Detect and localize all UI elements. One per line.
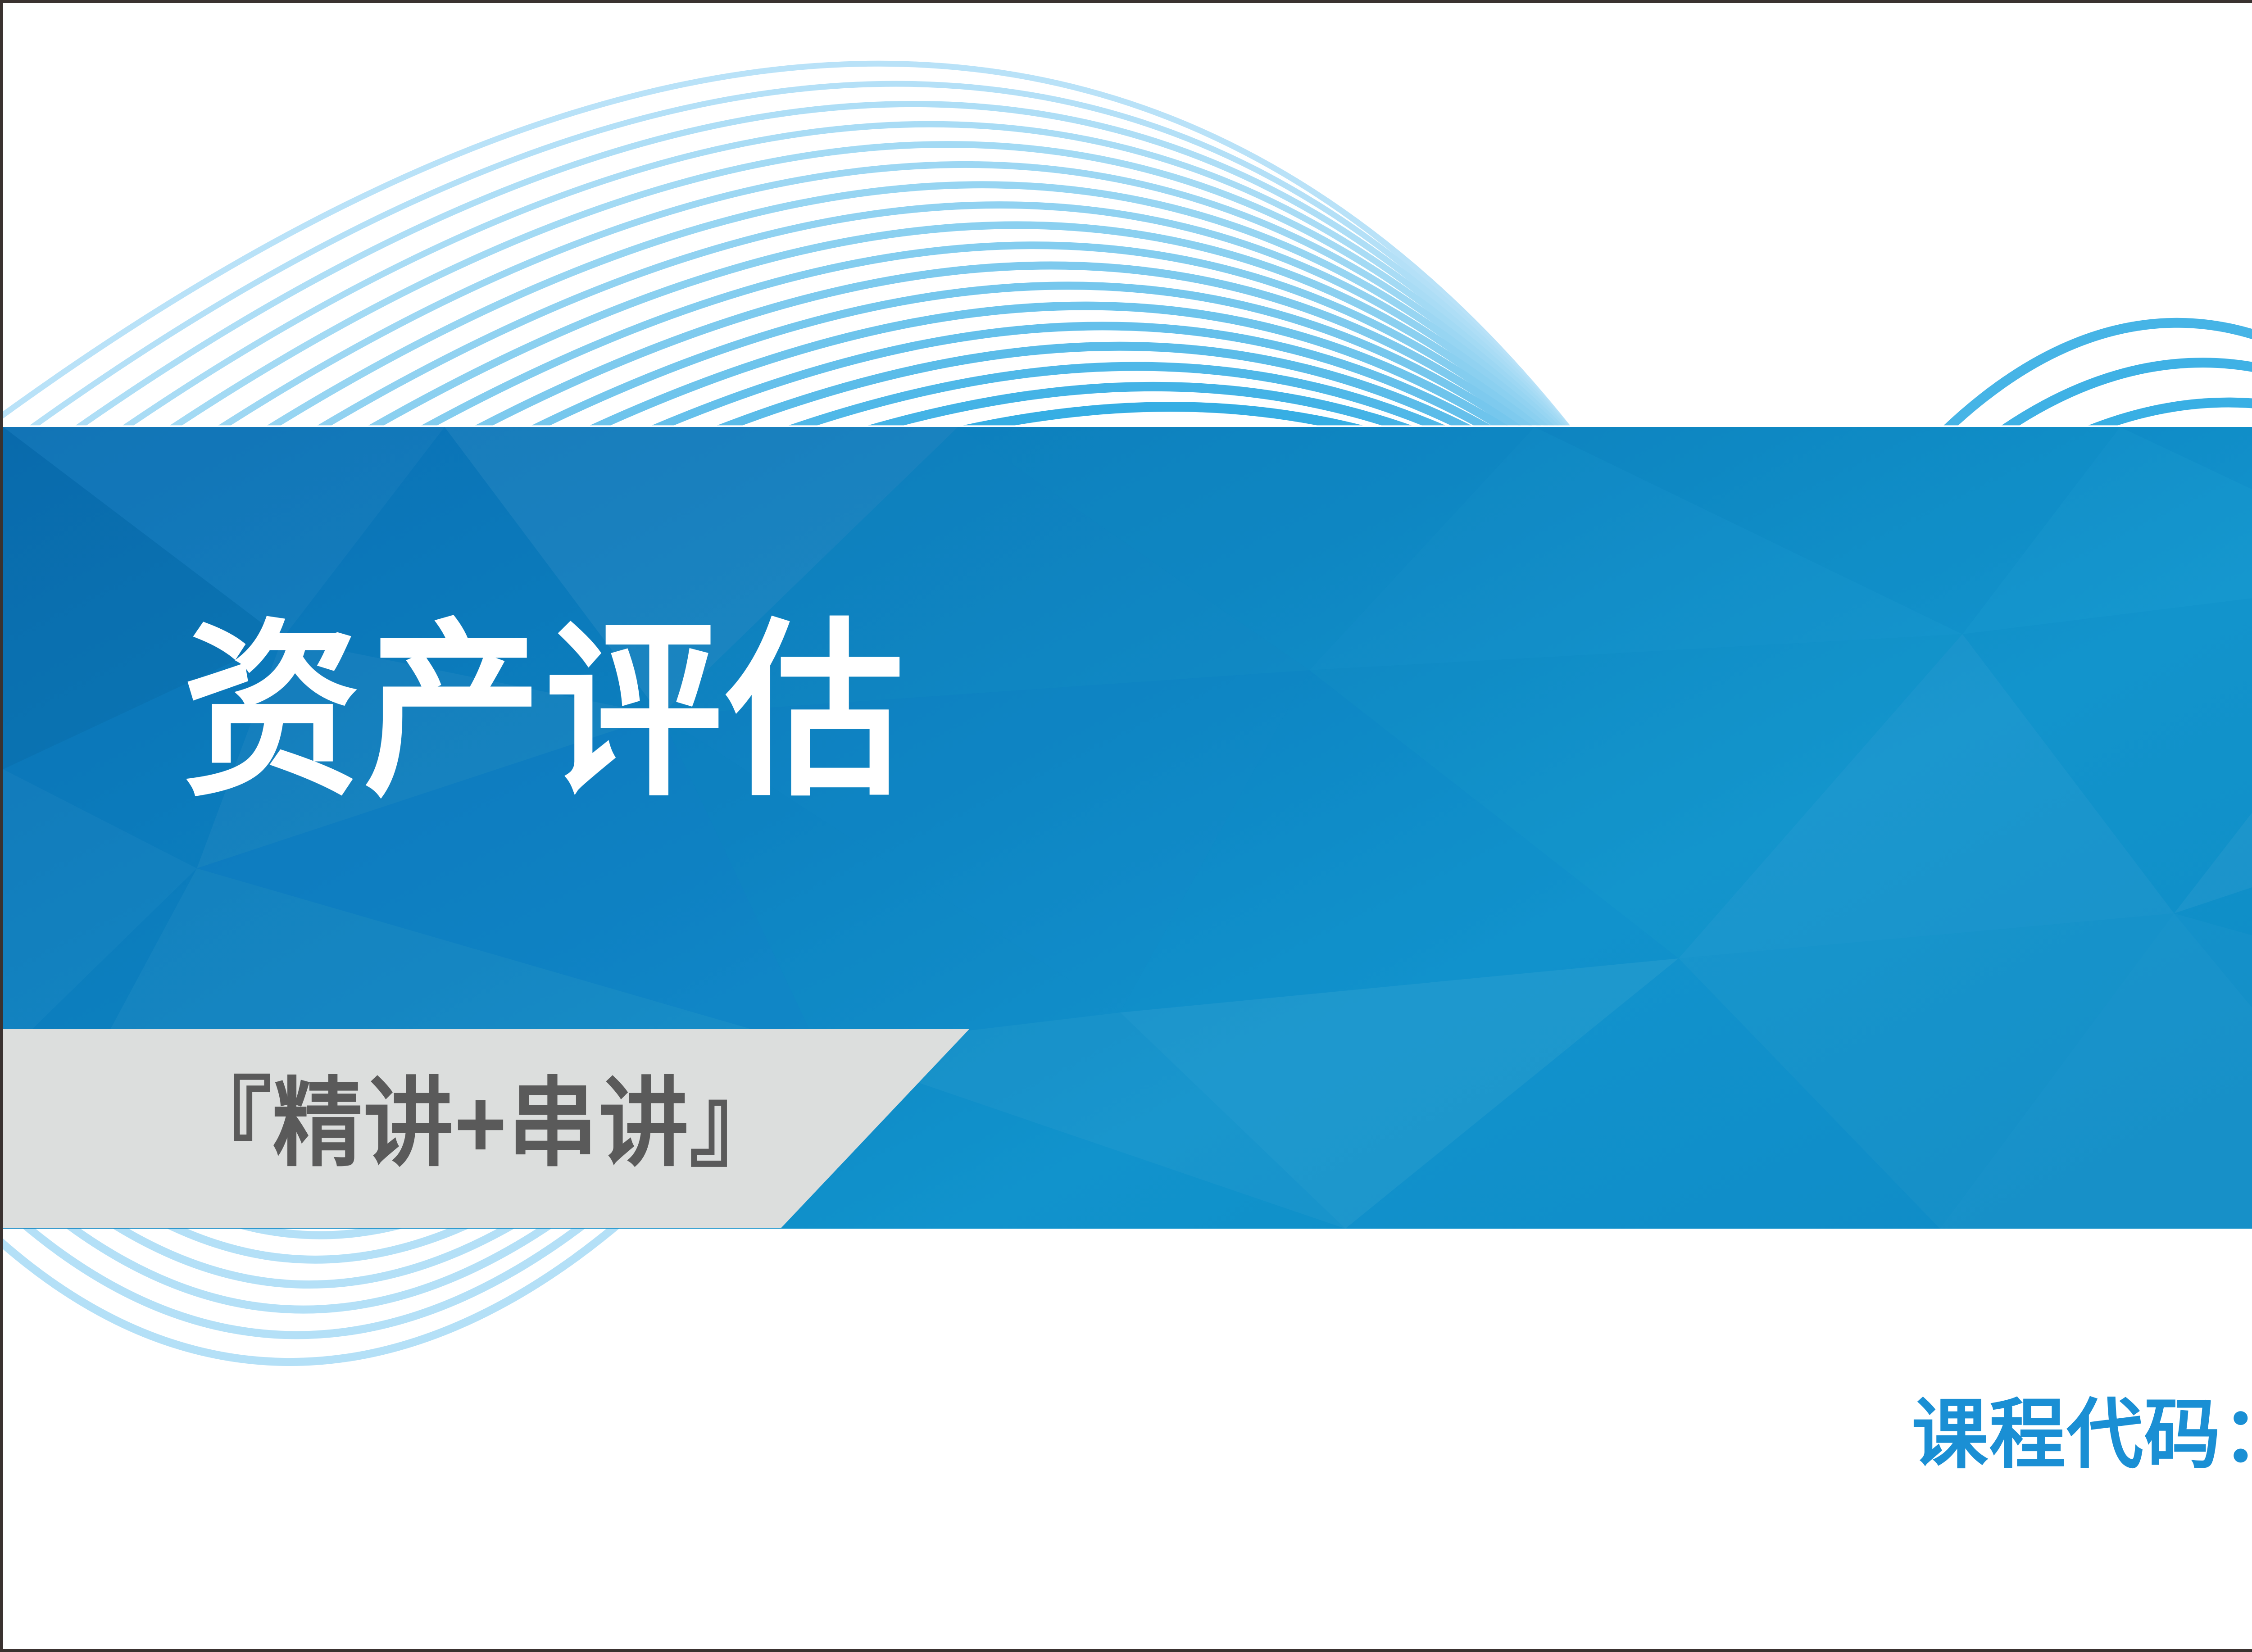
- subtitle-text: 『精讲+串讲』: [182, 1071, 780, 1177]
- course-code-label: 课程代码：00158: [1911, 1372, 2252, 1483]
- page-title: 资产评估: [182, 607, 907, 818]
- slide-canvas: 资产评估 『精讲+串讲』 课程代码：00158: [0, 0, 2252, 1652]
